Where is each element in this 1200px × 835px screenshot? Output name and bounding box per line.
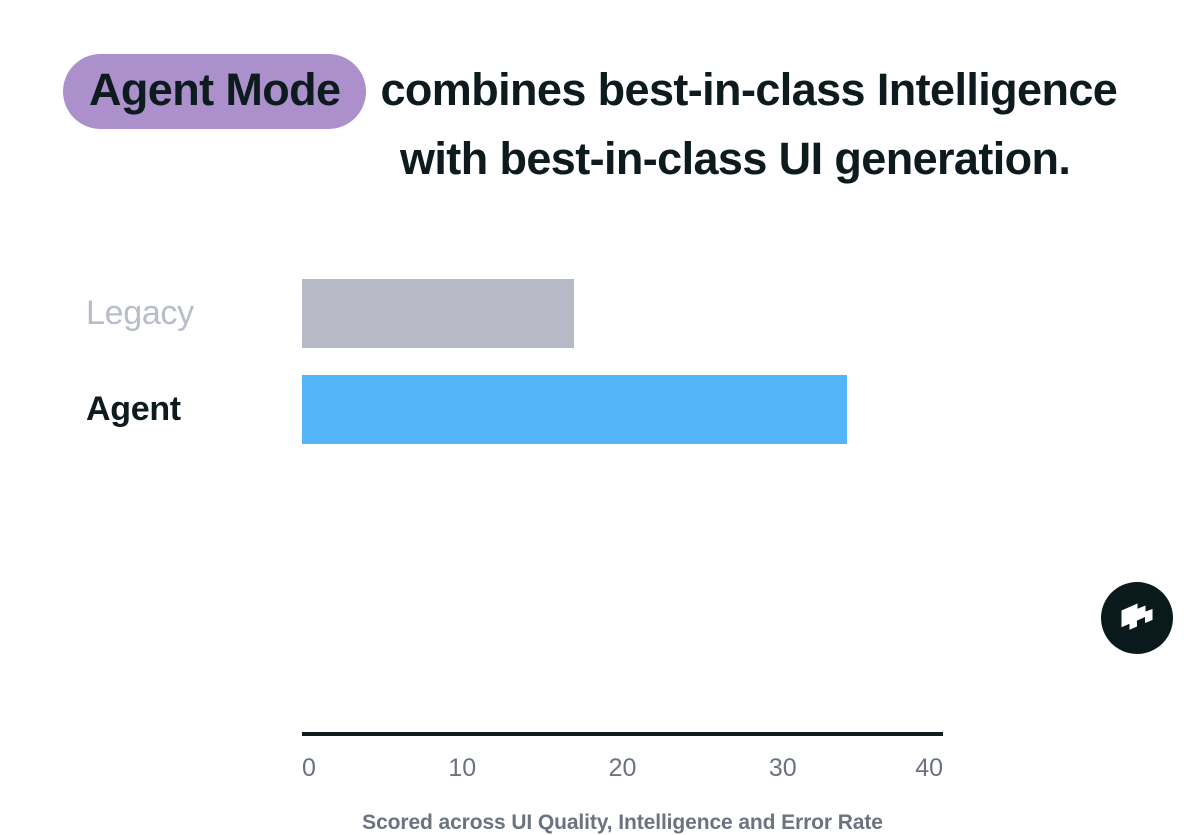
flag-mark-icon: [1118, 601, 1156, 635]
page-title: Agent Modecombines best-in-class Intelli…: [63, 54, 1143, 189]
comparison-bar-chart: Legacy Agent 010203040 Scored across UI …: [0, 262, 1200, 458]
chart-bar-agent: [302, 375, 847, 444]
slide-canvas: Agent Modecombines best-in-class Intelli…: [0, 0, 1200, 675]
chart-row-agent: Agent: [0, 375, 1200, 444]
chart-x-axis-line: [302, 732, 943, 736]
chart-x-axis-ticks: 010203040: [302, 754, 943, 790]
headline-line-1-text: combines best-in-class Intelligence: [380, 64, 1117, 115]
chart-x-tick-0: 0: [302, 754, 316, 783]
headline-line-1: Agent Modecombines best-in-class Intelli…: [63, 54, 1143, 129]
agent-mode-pill: Agent Mode: [63, 54, 366, 129]
chart-plot-area: Legacy Agent: [0, 262, 1200, 458]
chart-bar-legacy: [302, 279, 574, 348]
chart-x-tick-10: 10: [448, 754, 476, 783]
headline-line-2: with best-in-class UI generation.: [63, 129, 1143, 189]
chart-row-legacy: Legacy: [0, 279, 1200, 348]
chart-x-tick-30: 30: [769, 754, 797, 783]
chart-caption: Scored across UI Quality, Intelligence a…: [302, 811, 943, 835]
chart-category-label-agent: Agent: [86, 375, 181, 444]
chart-x-tick-40: 40: [915, 754, 943, 783]
chart-x-tick-20: 20: [609, 754, 637, 783]
chart-category-label-legacy: Legacy: [86, 279, 194, 348]
brand-logo-badge[interactable]: [1101, 582, 1173, 654]
